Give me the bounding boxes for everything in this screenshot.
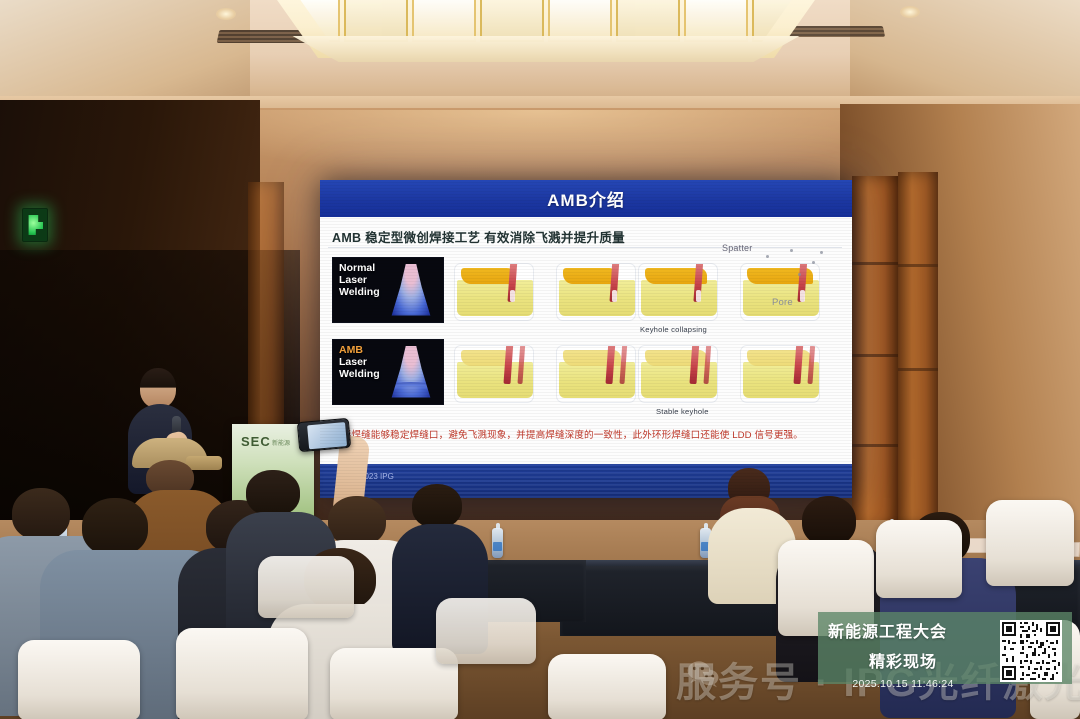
event-badge-text: 新能源工程大会 精彩现场 2025.10.15 11:46:24 xyxy=(828,618,978,690)
event-timestamp: 2025.10.15 11:46:24 xyxy=(828,678,978,690)
emergency-exit-icon xyxy=(27,215,43,235)
ceiling-downlight xyxy=(900,6,920,18)
slide-divider xyxy=(328,247,842,248)
chair xyxy=(436,598,536,664)
slide-subtitle: AMB 稳定型微创焊接工艺 有效消除飞溅并提升质量 xyxy=(332,227,625,246)
thumbnail-label: AMB Laser Welding xyxy=(339,345,380,380)
light-panel xyxy=(548,0,612,42)
phone-screen xyxy=(307,422,347,449)
diagram-cell-bottom-4 xyxy=(740,345,820,403)
label-keyhole-collapsing: Keyhole collapsing xyxy=(640,325,707,334)
chair xyxy=(548,654,666,719)
event-subtitle: 精彩现场 xyxy=(828,648,978,672)
slide-body: AMB 稳定型微创焊接工艺 有效消除飞溅并提升质量 Normal Laser W… xyxy=(320,217,852,464)
ceiling-left-slope xyxy=(0,0,250,110)
chair xyxy=(18,640,140,719)
presentation-screen: AMB介绍 AMB 稳定型微创焊接工艺 有效消除飞溅并提升质量 Normal L… xyxy=(320,180,852,498)
event-name: 新能源工程大会 xyxy=(828,618,978,642)
diagram-cell-bottom-2 xyxy=(556,345,636,403)
water-bottle xyxy=(492,528,503,558)
thumbnail-label: Normal Laser Welding xyxy=(339,263,380,298)
weld-cone-normal xyxy=(389,264,433,320)
thumbnail-normal-laser-welding: Normal Laser Welding xyxy=(332,257,444,323)
slide-footer: 2023 IPG xyxy=(320,464,852,498)
ceiling-light-skirt xyxy=(258,36,834,62)
qr-code-icon[interactable] xyxy=(1000,620,1062,682)
sec-logo: SEC xyxy=(241,434,271,449)
slide-header: AMB介绍 xyxy=(320,180,852,217)
diagram-cell-bottom-1 xyxy=(454,345,534,403)
chair xyxy=(986,500,1074,586)
wall-glow xyxy=(160,110,920,180)
chair xyxy=(876,520,962,598)
wood-panel-column xyxy=(852,176,898,528)
diagram-cell-top-3 xyxy=(638,263,718,321)
event-badge-overlay: 新能源工程大会 精彩现场 2025.10.15 11:46:24 xyxy=(818,612,1072,684)
slide-title: AMB介绍 xyxy=(547,186,625,211)
ceiling-right-slope xyxy=(850,0,1080,108)
light-panel xyxy=(412,0,476,42)
diagram-cell-top-1 xyxy=(454,263,534,321)
chair xyxy=(258,556,354,618)
thumbnail-amb-laser-welding: AMB Laser Welding xyxy=(332,339,444,405)
exit-sign xyxy=(22,208,48,242)
smartphone xyxy=(297,418,351,452)
label-spatter: Spatter xyxy=(722,243,752,253)
diagram-cell-bottom-3 xyxy=(638,345,718,403)
sec-sublabel: 新能源 xyxy=(272,438,290,447)
ceiling-vent-right xyxy=(787,26,885,37)
diagram-cell-top-4 xyxy=(740,263,820,321)
slide-note: 环形焊缝能够稳定焊缝口，避免飞溅现象，并提高焊缝深度的一致性，此外环形焊缝口还能… xyxy=(332,429,840,443)
chair xyxy=(176,628,308,719)
ceiling-downlight xyxy=(216,8,236,20)
label-pore: Pore xyxy=(772,297,793,308)
weld-cone-amb xyxy=(389,346,433,402)
label-stable-keyhole: Stable keyhole xyxy=(656,407,709,416)
diagram-cell-top-2 xyxy=(556,263,636,321)
light-panel xyxy=(616,0,680,42)
wood-panel-column xyxy=(898,172,938,528)
light-panel xyxy=(480,0,544,42)
conference-photo-scene: AMB介绍 AMB 稳定型微创焊接工艺 有效消除飞溅并提升质量 Normal L… xyxy=(0,0,1080,719)
light-panel xyxy=(344,0,408,42)
ceiling-light-panels xyxy=(276,0,816,42)
light-panel xyxy=(684,0,748,42)
